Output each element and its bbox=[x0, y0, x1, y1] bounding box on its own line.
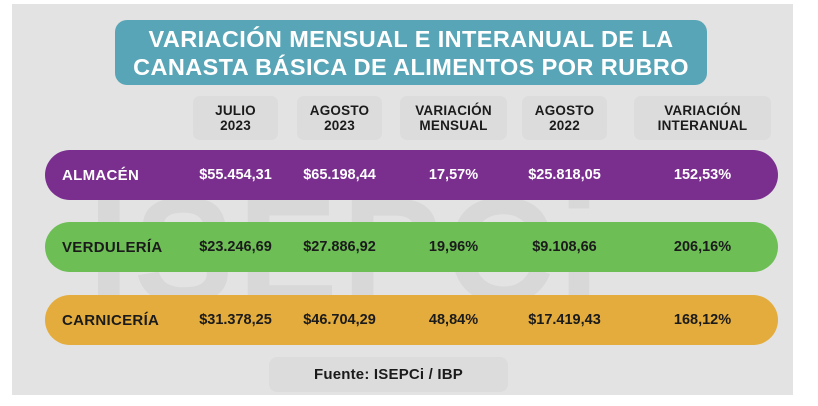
column-header-line-2: 2023 bbox=[220, 118, 251, 133]
column-header-line-1: VARIACIÓN bbox=[415, 103, 492, 118]
cell-variacion_mensual: 17,57% bbox=[400, 150, 507, 200]
row-category-label: VERDULERÍA bbox=[62, 222, 163, 272]
cell-agosto_2023: $65.198,44 bbox=[297, 150, 382, 200]
column-header-agosto_2022: AGOSTO2022 bbox=[522, 96, 607, 140]
column-header-julio_2023: JULIO2023 bbox=[193, 96, 278, 140]
title-banner: VARIACIÓN MENSUAL E INTERANUAL DE LA CAN… bbox=[115, 20, 707, 85]
cell-agosto_2023: $46.704,29 bbox=[297, 295, 382, 345]
column-header-line-1: AGOSTO bbox=[310, 103, 369, 118]
table-header-row: JULIO2023AGOSTO2023VARIACIÓNMENSUALAGOST… bbox=[0, 96, 818, 140]
page-title-line-2: CANASTA BÁSICA DE ALIMENTOS POR RUBRO bbox=[133, 53, 689, 81]
cell-julio_2023: $55.454,31 bbox=[193, 150, 278, 200]
page-title-line-1: VARIACIÓN MENSUAL E INTERANUAL DE LA bbox=[149, 25, 674, 53]
cell-agosto_2023: $27.886,92 bbox=[297, 222, 382, 272]
table-row: VERDULERÍA$23.246,69$27.886,9219,96%$9.1… bbox=[45, 222, 778, 272]
column-header-line-2: INTERANUAL bbox=[658, 118, 748, 133]
source-footer: Fuente: ISEPCi / IBP bbox=[269, 357, 508, 392]
column-header-line-1: JULIO bbox=[215, 103, 256, 118]
column-header-line-1: VARIACIÓN bbox=[664, 103, 741, 118]
column-header-line-2: 2022 bbox=[549, 118, 580, 133]
row-category-label: ALMACÉN bbox=[62, 150, 139, 200]
cell-julio_2023: $31.378,25 bbox=[193, 295, 278, 345]
table-row: CARNICERÍA$31.378,25$46.704,2948,84%$17.… bbox=[45, 295, 778, 345]
cell-agosto_2022: $25.818,05 bbox=[522, 150, 607, 200]
cell-variacion_interanual: 152,53% bbox=[634, 150, 771, 200]
cell-variacion_mensual: 48,84% bbox=[400, 295, 507, 345]
cell-variacion_mensual: 19,96% bbox=[400, 222, 507, 272]
column-header-line-1: AGOSTO bbox=[535, 103, 594, 118]
cell-julio_2023: $23.246,69 bbox=[193, 222, 278, 272]
infographic-canvas: ISEPCi VARIACIÓN MENSUAL E INTERANUAL DE… bbox=[0, 0, 818, 406]
cell-agosto_2022: $17.419,43 bbox=[522, 295, 607, 345]
column-header-variacion_mensual: VARIACIÓNMENSUAL bbox=[400, 96, 507, 140]
column-header-line-2: 2023 bbox=[324, 118, 355, 133]
cell-variacion_interanual: 168,12% bbox=[634, 295, 771, 345]
column-header-agosto_2023: AGOSTO2023 bbox=[297, 96, 382, 140]
row-category-label: CARNICERÍA bbox=[62, 295, 159, 345]
cell-agosto_2022: $9.108,66 bbox=[522, 222, 607, 272]
column-header-variacion_interanual: VARIACIÓNINTERANUAL bbox=[634, 96, 771, 140]
table-row: ALMACÉN$55.454,31$65.198,4417,57%$25.818… bbox=[45, 150, 778, 200]
cell-variacion_interanual: 206,16% bbox=[634, 222, 771, 272]
source-footer-label: Fuente: ISEPCi / IBP bbox=[314, 366, 463, 383]
column-header-line-2: MENSUAL bbox=[419, 118, 487, 133]
